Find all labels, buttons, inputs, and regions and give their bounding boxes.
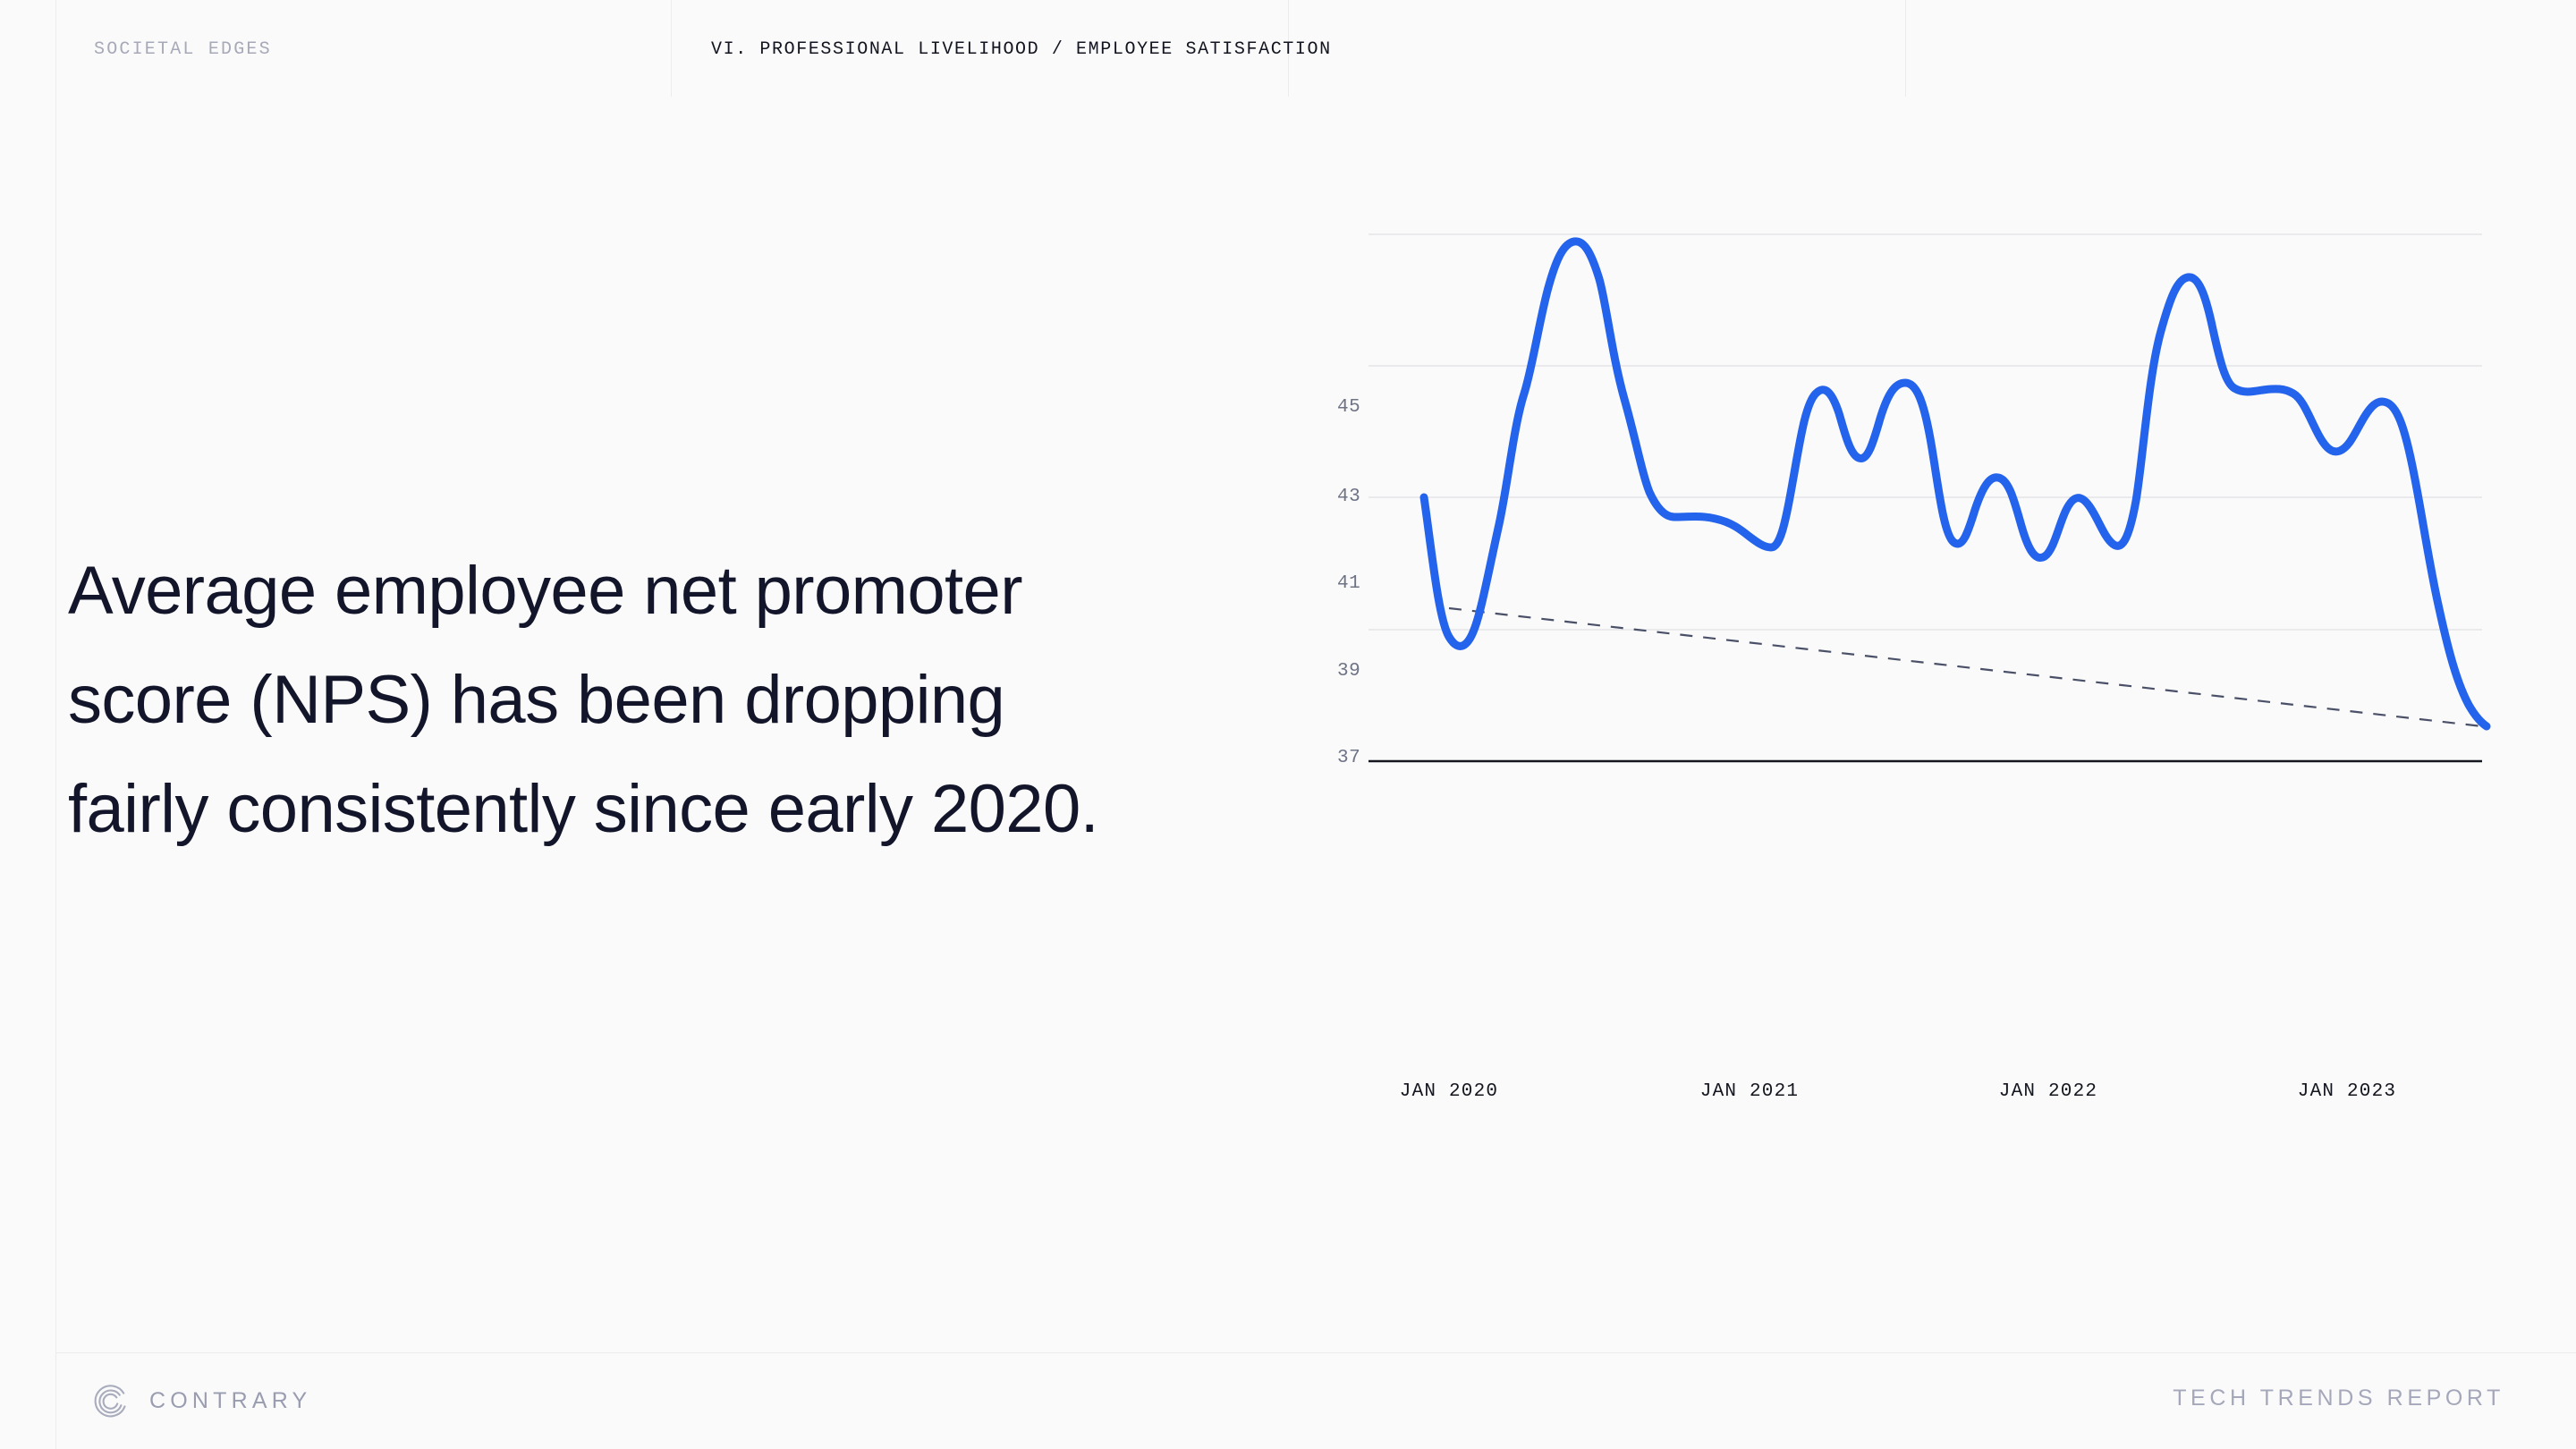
column-rule-left	[55, 0, 56, 1449]
enps-line-chart: AVERAGE eNPS 45 43 41 39 37 JAN 2020 JAN…	[1288, 0, 2576, 1352]
column-rule-1	[671, 0, 672, 97]
header-section-group: SOCIETAL EDGES	[94, 39, 272, 60]
header-breadcrumb: VI. PROFESSIONAL LIVELIHOOD / EMPLOYEE S…	[711, 39, 1332, 60]
footer-report-label: TECH TRENDS REPORT	[2173, 1385, 2504, 1411]
enps-series-line	[1424, 241, 2487, 726]
brand-name: CONTRARY	[149, 1388, 311, 1414]
trend-line	[1449, 608, 2482, 726]
footer-brand[interactable]: CONTRARY	[94, 1382, 311, 1419]
page-headline: Average employee net promoter score (NPS…	[68, 537, 1123, 864]
footer-divider	[55, 1352, 2576, 1353]
contrary-spiral-logo-icon	[94, 1382, 131, 1419]
chart-plot-svg	[1288, 0, 2576, 1127]
report-page: SOCIETAL EDGES VI. PROFESSIONAL LIVELIHO…	[0, 0, 2576, 1449]
